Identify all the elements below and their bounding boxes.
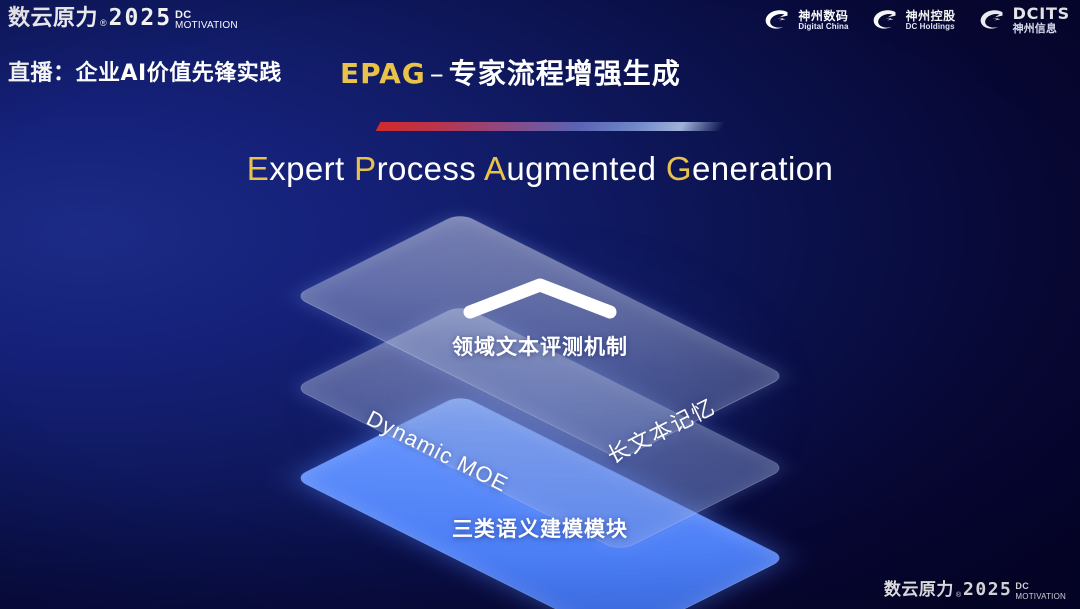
page-title: EPAG–专家流程增强生成 — [340, 52, 681, 92]
swirl-icon — [871, 8, 901, 34]
partner-name-en: DC Holdings — [906, 23, 956, 31]
partner-logo-dc-holdings: 神州控股 DC Holdings — [871, 8, 956, 34]
subtitle-word-expert: Expert — [247, 150, 345, 187]
watermark-name-cn: 数云原力 — [884, 579, 954, 601]
brand-name-cn: 数云原力 — [8, 8, 98, 30]
partner-name-en: Digital China — [798, 23, 848, 31]
partner-name-en: 神州信息 — [1013, 24, 1070, 36]
watermark-motivation-text: MOTIVATION — [1015, 592, 1066, 601]
header-bar: 数云原力 ® 2025 DC MOTIVATION 神州数码 Digital C… — [0, 0, 1080, 46]
subtitle-word-process: Process — [354, 150, 476, 187]
layer-label-top: 领域文本评测机制 — [0, 331, 1080, 361]
brand-dc-text: DC — [175, 11, 238, 20]
subtitle-expansion: Expert Process Augmented Generation — [0, 150, 1080, 188]
subtitle-word-generation: Generation — [666, 150, 833, 187]
slide-canvas: 数云原力 ® 2025 DC MOTIVATION 神州数码 Digital C… — [0, 0, 1080, 609]
partner-name-cn: 神州控股 — [906, 10, 956, 23]
footer-watermark-logo: 数云原力 ® 2025 DC MOTIVATION — [884, 578, 1066, 601]
layer-label-long-text-memory: 长文本记忆 — [601, 389, 720, 470]
brand-motivation-text: MOTIVATION — [175, 21, 238, 30]
chevron-up-icon — [462, 276, 618, 320]
watermark-registered-mark: ® — [956, 590, 961, 601]
watermark-year: 2025 — [963, 578, 1012, 601]
live-stream-title: 直播：企业AI价值先锋实践 — [8, 55, 282, 87]
brand-logo: 数云原力 ® 2025 DC MOTIVATION — [8, 7, 238, 30]
brand-registered-mark: ® — [100, 16, 107, 30]
partner-name-cn: 神州数码 — [798, 10, 848, 23]
watermark-dc-text: DC — [1015, 582, 1066, 591]
brand-dc-motivation: DC MOTIVATION — [175, 11, 238, 30]
accent-gradient-bar — [376, 122, 726, 131]
subtitle-word-augmented: Augmented — [484, 150, 656, 187]
partner-logo-digital-china: 神州数码 Digital China — [763, 8, 848, 34]
layer-label-dynamic-moe: Dynamic MOE — [362, 405, 512, 497]
brand-year: 2025 — [109, 7, 172, 30]
partner-name-cn: DCITS — [1013, 6, 1070, 23]
partner-logo-dcits: DCITS 神州信息 — [978, 6, 1070, 35]
partner-label: 神州控股 DC Holdings — [906, 10, 956, 32]
page-title-dash: – — [426, 57, 449, 90]
swirl-icon — [978, 8, 1008, 34]
page-title-cn: 专家流程增强生成 — [449, 57, 681, 90]
layer-label-bottom: 三类语义建模模块 — [0, 513, 1080, 543]
partner-logos: 神州数码 Digital China 神州控股 DC Holdings — [763, 6, 1070, 35]
partner-label: DCITS 神州信息 — [1013, 6, 1070, 35]
watermark-dc-motivation: DC MOTIVATION — [1015, 582, 1066, 601]
partner-label: 神州数码 Digital China — [798, 10, 848, 32]
page-title-acronym: EPAG — [340, 57, 426, 90]
swirl-icon — [763, 8, 793, 34]
